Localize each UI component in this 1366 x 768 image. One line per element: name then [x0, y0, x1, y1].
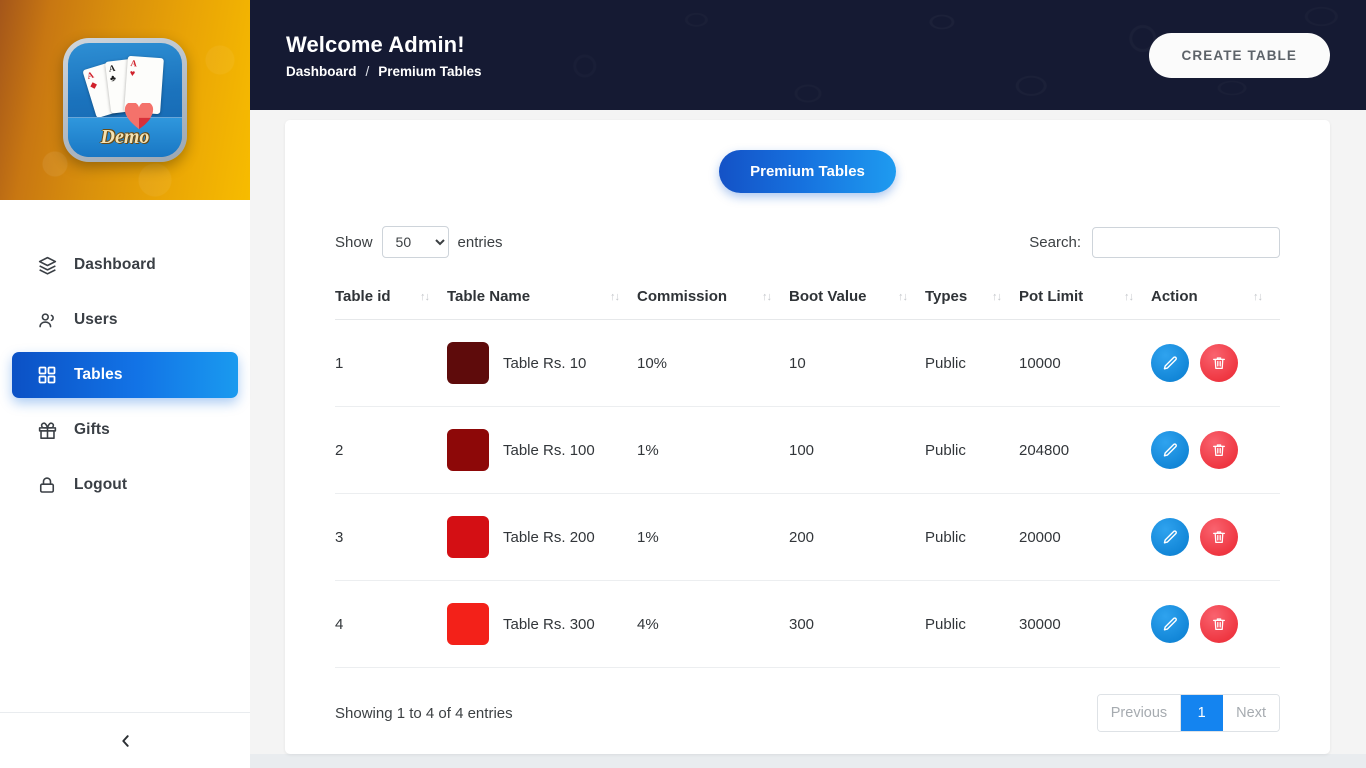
sidebar-item-dashboard[interactable]: Dashboard — [12, 242, 238, 288]
edit-row-button[interactable] — [1151, 344, 1189, 382]
trash-icon — [1211, 355, 1227, 371]
page-title: Welcome Admin! — [286, 32, 482, 58]
diamond-icon: ◆ — [89, 80, 98, 91]
column-header-action[interactable]: Action ↑↓ — [1151, 278, 1280, 320]
column-label: Boot Value — [789, 288, 867, 305]
sidebar-item-label: Tables — [74, 366, 123, 384]
cell-boot-value: 100 — [789, 407, 925, 494]
table-header-row: Table id ↑↓ Table Name ↑↓ — [335, 278, 1280, 320]
app-icon: A ◆ A ♣ A ♥ De — [63, 38, 187, 162]
lock-icon — [36, 474, 58, 496]
trash-icon — [1211, 616, 1227, 632]
sort-arrows-icon: ↑↓ — [992, 291, 1001, 303]
pagination-next[interactable]: Next — [1223, 695, 1279, 731]
delete-row-button[interactable] — [1200, 431, 1238, 469]
tab-row: Premium Tables — [285, 150, 1330, 193]
column-header-table-name[interactable]: Table Name ↑↓ — [447, 278, 637, 320]
page-length-select[interactable]: 102550100 — [382, 226, 449, 258]
sidebar-nav: Dashboard Users Tables — [0, 200, 250, 712]
sort-arrows-icon: ↑↓ — [610, 291, 619, 303]
sidebar-item-label: Logout — [74, 476, 127, 494]
main-area: Welcome Admin! Dashboard / Premium Table… — [250, 0, 1366, 768]
search-input[interactable] — [1092, 227, 1280, 258]
table-color-swatch — [447, 603, 489, 645]
cell-types: Public — [925, 407, 1019, 494]
table-color-swatch — [447, 342, 489, 384]
cell-pot-limit: 204800 — [1019, 407, 1151, 494]
table-row: 1Table Rs. 1010%10Public10000 — [335, 320, 1280, 407]
cell-table-id: 4 — [335, 581, 447, 668]
delete-row-button[interactable] — [1200, 518, 1238, 556]
cell-boot-value: 300 — [789, 581, 925, 668]
column-header-commission[interactable]: Commission ↑↓ — [637, 278, 789, 320]
table-body: 1Table Rs. 1010%10Public100002Table Rs. … — [335, 320, 1280, 668]
cell-types: Public — [925, 581, 1019, 668]
sidebar-item-tables[interactable]: Tables — [12, 352, 238, 398]
breadcrumb-current: Premium Tables — [378, 64, 481, 79]
sidebar-item-label: Dashboard — [74, 256, 156, 274]
users-icon — [36, 309, 58, 331]
cell-commission: 1% — [637, 407, 789, 494]
tables-panel: Premium Tables Show 102550100 entries Se… — [285, 120, 1330, 754]
cell-types: Public — [925, 320, 1019, 407]
sort-arrows-icon: ↑↓ — [762, 291, 771, 303]
column-label: Action — [1151, 288, 1198, 305]
breadcrumb-separator: / — [366, 64, 370, 79]
table-color-swatch — [447, 429, 489, 471]
show-label: Show — [335, 234, 373, 251]
chevron-left-icon[interactable] — [112, 728, 138, 754]
cell-action — [1151, 407, 1280, 494]
premium-tables-table: Table id ↑↓ Table Name ↑↓ — [335, 278, 1280, 668]
admin-dashboard-page: A ◆ A ♣ A ♥ De — [0, 0, 1366, 768]
pagination-previous[interactable]: Previous — [1098, 695, 1181, 731]
table-color-swatch — [447, 516, 489, 558]
welcome-block: Welcome Admin! Dashboard / Premium Table… — [286, 32, 482, 79]
table-row: 3Table Rs. 2001%200Public20000 — [335, 494, 1280, 581]
sidebar: A ◆ A ♣ A ♥ De — [0, 0, 250, 768]
sort-arrows-icon: ↑↓ — [1124, 291, 1133, 303]
create-table-button[interactable]: CREATE TABLE — [1149, 33, 1330, 78]
cell-action — [1151, 320, 1280, 407]
page-length-control: Show 102550100 entries — [335, 226, 503, 258]
search-control: Search: — [1029, 227, 1280, 258]
pencil-icon — [1162, 355, 1179, 372]
search-label: Search: — [1029, 234, 1081, 251]
column-header-table-id[interactable]: Table id ↑↓ — [335, 278, 447, 320]
column-header-pot-limit[interactable]: Pot Limit ↑↓ — [1019, 278, 1151, 320]
pencil-icon — [1162, 616, 1179, 633]
sidebar-item-label: Users — [74, 311, 118, 329]
column-label: Types — [925, 288, 967, 305]
delete-row-button[interactable] — [1200, 344, 1238, 382]
sidebar-footer — [0, 712, 250, 768]
sort-arrows-icon: ↑↓ — [420, 291, 429, 303]
sidebar-item-logout[interactable]: Logout — [12, 462, 238, 508]
table-name-label: Table Rs. 300 — [503, 616, 595, 633]
table-head: Table id ↑↓ Table Name ↑↓ — [335, 278, 1280, 320]
pencil-icon — [1162, 529, 1179, 546]
sidebar-item-gifts[interactable]: Gifts — [12, 407, 238, 453]
sidebar-item-label: Gifts — [74, 421, 110, 439]
sidebar-item-users[interactable]: Users — [12, 297, 238, 343]
heart-icon: ♥ — [129, 69, 135, 78]
entries-info: Showing 1 to 4 of 4 entries — [335, 705, 513, 722]
cell-table-name: Table Rs. 100 — [447, 407, 637, 494]
layers-icon — [36, 254, 58, 276]
column-header-boot-value[interactable]: Boot Value ↑↓ — [789, 278, 925, 320]
column-label: Table Name — [447, 288, 530, 305]
table-row: 2Table Rs. 1001%100Public204800 — [335, 407, 1280, 494]
table-footer: Showing 1 to 4 of 4 entries Previous 1 N… — [285, 668, 1330, 732]
column-label: Commission — [637, 288, 727, 305]
cell-commission: 4% — [637, 581, 789, 668]
pagination-page-1[interactable]: 1 — [1181, 695, 1223, 731]
pencil-icon — [1162, 442, 1179, 459]
table-controls: Show 102550100 entries Search: — [285, 193, 1330, 258]
entries-label: entries — [458, 234, 503, 251]
table-name-label: Table Rs. 200 — [503, 529, 595, 546]
cell-action — [1151, 581, 1280, 668]
pagination: Previous 1 Next — [1097, 694, 1280, 732]
cell-table-name: Table Rs. 10 — [447, 320, 637, 407]
cell-pot-limit: 10000 — [1019, 320, 1151, 407]
cell-boot-value: 10 — [789, 320, 925, 407]
heart-badge-icon — [124, 103, 154, 130]
sort-arrows-icon: ↑↓ — [898, 291, 907, 303]
edit-row-button[interactable] — [1151, 431, 1189, 469]
cell-table-id: 2 — [335, 407, 447, 494]
cell-table-name: Table Rs. 300 — [447, 581, 637, 668]
cell-table-id: 3 — [335, 494, 447, 581]
cell-pot-limit: 20000 — [1019, 494, 1151, 581]
delete-row-button[interactable] — [1200, 605, 1238, 643]
gift-icon — [36, 419, 58, 441]
club-icon: ♣ — [110, 74, 117, 84]
page-header: Welcome Admin! Dashboard / Premium Table… — [250, 0, 1366, 110]
edit-row-button[interactable] — [1151, 518, 1189, 556]
cell-commission: 1% — [637, 494, 789, 581]
tab-premium-tables[interactable]: Premium Tables — [719, 150, 896, 193]
page-footer: Copyright © Teenpatti Queen 2020 | Proud… — [250, 754, 1366, 768]
cell-types: Public — [925, 494, 1019, 581]
column-label: Pot Limit — [1019, 288, 1083, 305]
cell-commission: 10% — [637, 320, 789, 407]
trash-icon — [1211, 442, 1227, 458]
content-region: Premium Tables Show 102550100 entries Se… — [250, 110, 1366, 754]
sort-arrows-icon: ↑↓ — [1253, 291, 1262, 303]
breadcrumb: Dashboard / Premium Tables — [286, 64, 482, 79]
cell-table-id: 1 — [335, 320, 447, 407]
table-name-label: Table Rs. 10 — [503, 355, 586, 372]
trash-icon — [1211, 529, 1227, 545]
cell-pot-limit: 30000 — [1019, 581, 1151, 668]
card-rank-2: A — [130, 59, 137, 68]
cell-table-name: Table Rs. 200 — [447, 494, 637, 581]
breadcrumb-root[interactable]: Dashboard — [286, 64, 357, 79]
table-name-label: Table Rs. 100 — [503, 442, 595, 459]
table-row: 4Table Rs. 3004%300Public30000 — [335, 581, 1280, 668]
grid-icon — [36, 364, 58, 386]
brand-logo-panel[interactable]: A ◆ A ♣ A ♥ De — [0, 0, 250, 200]
edit-row-button[interactable] — [1151, 605, 1189, 643]
column-label: Table id — [335, 288, 391, 305]
column-header-types[interactable]: Types ↑↓ — [925, 278, 1019, 320]
cell-boot-value: 200 — [789, 494, 925, 581]
cell-action — [1151, 494, 1280, 581]
